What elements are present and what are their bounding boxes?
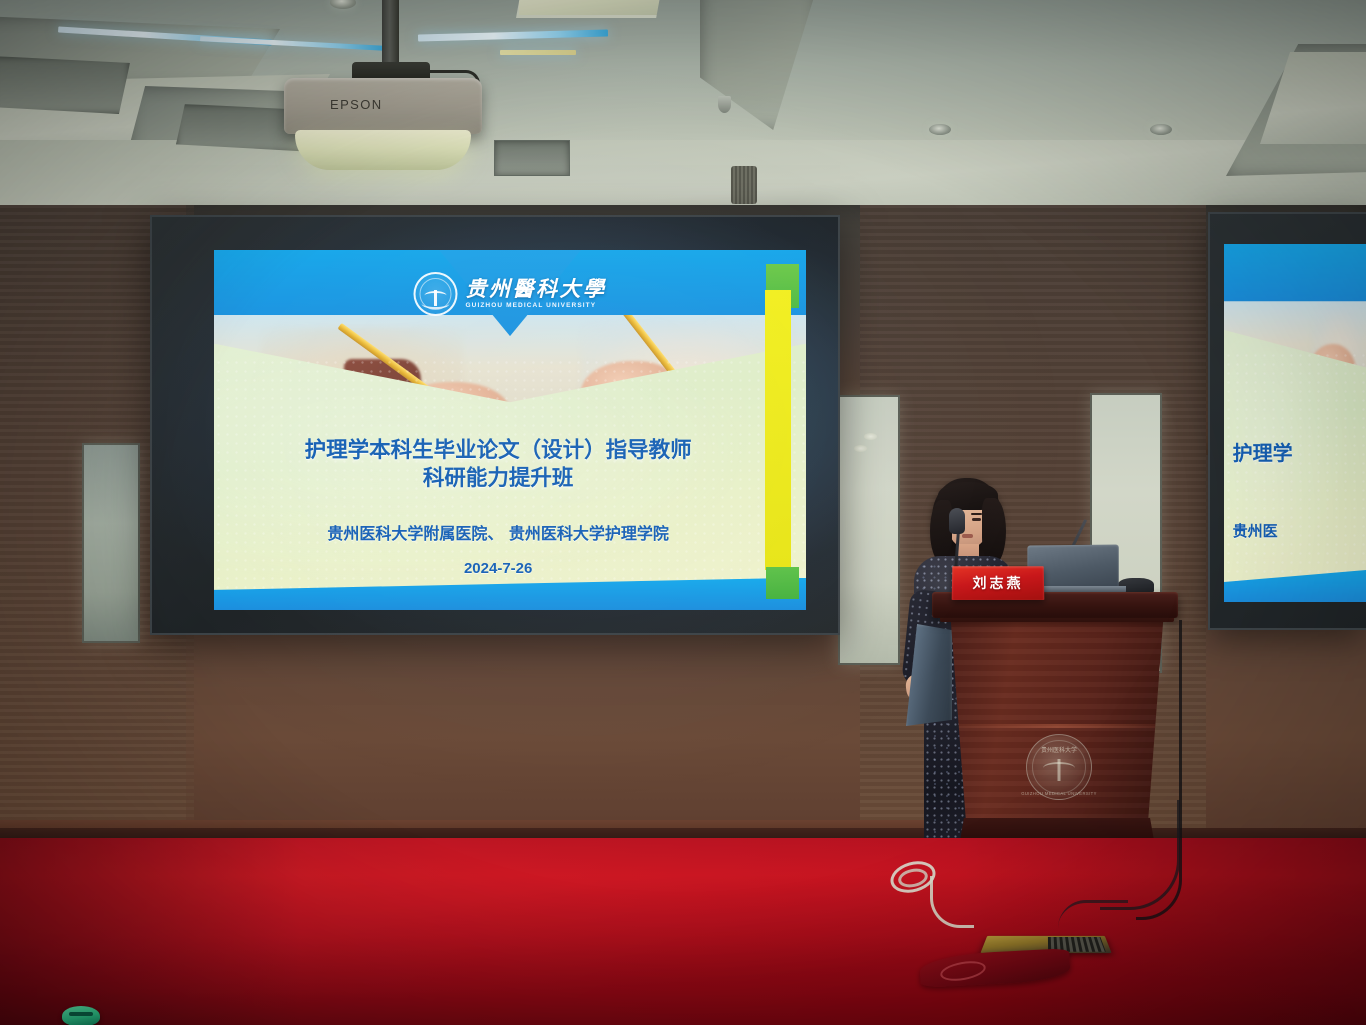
seal-arc: [422, 298, 450, 309]
presentation-scene: EPSON: [0, 0, 1366, 1025]
slide-university-logo: 贵州醫科大學 GUIZHOU MEDICAL UNIVERSITY: [414, 272, 607, 316]
speaker-eye-right: [972, 518, 981, 521]
logo-text-block: 贵州醫科大學 GUIZHOU MEDICAL UNIVERSITY: [466, 278, 607, 309]
glass-panel-light-icon: [864, 433, 877, 440]
speaker-hair-side-right: [982, 498, 1006, 564]
emblem-name-en: GUIZHOU MEDICAL UNIVERSITY: [1021, 791, 1097, 796]
power-cable: [1058, 900, 1128, 930]
downlight-icon: [1150, 124, 1172, 135]
slide-right: 护理学 贵州医: [1224, 244, 1366, 602]
ceiling-skylight: [516, 0, 662, 18]
slide-main: 贵州醫科大學 GUIZHOU MEDICAL UNIVERSITY 护理学本科生…: [214, 250, 806, 610]
small-green-object-icon: [62, 1006, 100, 1025]
slide-right-organizers: 贵州医: [1233, 520, 1366, 541]
ceiling-plane-main: [0, 140, 1366, 214]
speaker-nameplate: 刘志燕: [952, 566, 1045, 600]
university-emblem-icon: 贵州医科大学 GUIZHOU MEDICAL UNIVERSITY: [1026, 734, 1092, 800]
emblem-staff: [1058, 759, 1061, 781]
slide-right-title: 护理学: [1233, 437, 1366, 466]
podium-trim: [958, 724, 1156, 728]
downlight-icon: [929, 124, 951, 135]
nameplate-text: 刘志燕: [972, 573, 1023, 593]
glass-panel-light-icon: [854, 445, 867, 452]
microphone-head: [949, 508, 965, 534]
projector-lens: [295, 130, 471, 170]
slide-right-dot-pattern: [1224, 351, 1366, 602]
emblem-name-cn: 贵州医科大学: [1041, 745, 1077, 754]
air-vent-icon: [494, 140, 570, 176]
university-seal-icon: [414, 272, 458, 316]
slide-title-line-1: 护理学本科生毕业论文（设计）指导教师: [238, 437, 759, 465]
projector-vent-icon: [731, 166, 757, 204]
sprinkler-head-icon: [718, 96, 731, 113]
logo-name-en: GUIZHOU MEDICAL UNIVERSITY: [466, 302, 597, 309]
slide-date: 2024-7-26: [232, 560, 765, 577]
glass-wall-panel-center: [838, 395, 900, 665]
ceiling-recess-right: [700, 0, 818, 130]
light-strip-icon: [500, 50, 576, 55]
speaker-brow-right: [971, 513, 982, 515]
slide-accent-yellow: [765, 290, 791, 571]
air-vent-icon: [0, 56, 130, 114]
light-strip-icon: [418, 30, 608, 42]
slide-title: 护理学本科生毕业论文（设计）指导教师 科研能力提升班: [238, 437, 759, 492]
projection-screen-right: 护理学 贵州医: [1208, 212, 1366, 630]
projector-icon: [284, 78, 482, 134]
ceiling: EPSON: [0, 0, 1366, 212]
slide-title-line-2: 科研能力提升班: [238, 465, 759, 493]
slide-organizers: 贵州医科大学附属医院、 贵州医科大学护理学院: [232, 524, 765, 545]
logo-name-cn: 贵州醫科大學: [466, 278, 607, 300]
projector-brand-label: EPSON: [330, 97, 383, 112]
projection-screen-main: 贵州醫科大學 GUIZHOU MEDICAL UNIVERSITY 护理学本科生…: [150, 215, 840, 635]
speaker-mouth: [962, 534, 973, 538]
green-object-slot: [69, 1012, 93, 1016]
downlight-icon: [330, 0, 356, 9]
ceiling-plane-right: [1260, 52, 1366, 144]
slide-accent-green-bottom: [766, 567, 799, 599]
glass-wall-panel-left: [82, 443, 140, 643]
